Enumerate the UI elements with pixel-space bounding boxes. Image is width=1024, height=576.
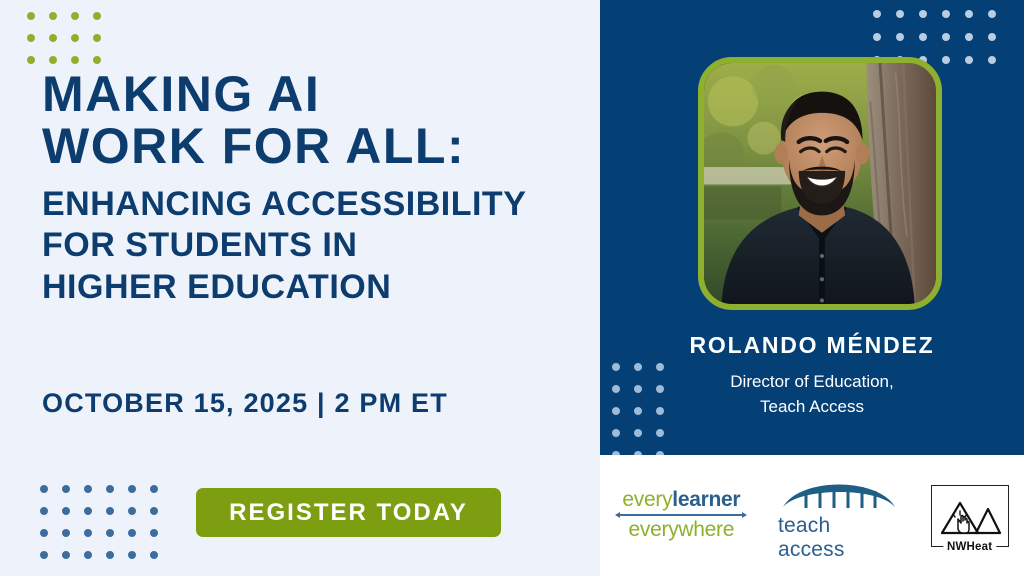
decorative-dot	[71, 56, 79, 64]
decorative-dot	[150, 485, 158, 493]
decorative-dot	[128, 485, 136, 493]
decorative-dot	[62, 507, 70, 515]
decorative-dot	[873, 10, 881, 18]
decorative-dot	[106, 551, 114, 559]
decorative-dot	[942, 33, 950, 41]
decorative-dot	[965, 56, 973, 64]
decorative-dot	[27, 12, 35, 20]
decorative-dot	[965, 33, 973, 41]
title-main-line-1: MAKING AI	[42, 68, 582, 120]
decorative-dot	[988, 10, 996, 18]
decorative-dot	[84, 551, 92, 559]
speaker-portrait-illustration	[704, 63, 936, 304]
page-title: MAKING AI WORK FOR ALL: ENHANCING ACCESS…	[42, 68, 582, 308]
decorative-dot	[919, 33, 927, 41]
decorative-dot	[919, 10, 927, 18]
decorative-dot	[27, 34, 35, 42]
decorative-dot	[71, 34, 79, 42]
speaker-photo	[704, 63, 936, 304]
teach-access-logo: teach access	[778, 469, 900, 562]
mountains-with-hand-icon	[938, 495, 1002, 537]
decorative-dot	[942, 56, 950, 64]
decorative-dot-grid-top-right	[873, 10, 996, 64]
decorative-dot	[62, 551, 70, 559]
speaker-name: ROLANDO MÉNDEZ	[600, 332, 1024, 359]
register-today-button[interactable]: REGISTER TODAY	[196, 488, 501, 537]
decorative-dot	[612, 363, 620, 371]
nwheat-logo-box: NWHeat	[931, 485, 1009, 547]
ele-everywhere-text: everywhere	[629, 519, 735, 541]
decorative-dot	[27, 56, 35, 64]
decorative-dot	[40, 551, 48, 559]
every-learner-everywhere-logo: everylearner everywhere	[615, 489, 747, 541]
decorative-dot	[896, 33, 904, 41]
bridge-arch-icon	[780, 469, 898, 511]
decorative-dot	[612, 385, 620, 393]
decorative-dot	[612, 407, 620, 415]
ele-learner-text: learner	[672, 489, 740, 510]
decorative-dot	[965, 10, 973, 18]
title-main-line-2: WORK FOR ALL:	[42, 120, 582, 172]
title-sub-line-3: HIGHER EDUCATION	[42, 267, 582, 308]
decorative-dot	[40, 485, 48, 493]
decorative-dot	[634, 407, 642, 415]
decorative-dot	[49, 56, 57, 64]
left-content-panel: MAKING AI WORK FOR ALL: ENHANCING ACCESS…	[0, 0, 600, 576]
decorative-dot	[150, 507, 158, 515]
speaker-photo-frame	[698, 57, 942, 310]
decorative-dot	[93, 12, 101, 20]
decorative-dot	[896, 10, 904, 18]
ele-arrow-rule-icon	[615, 510, 747, 519]
decorative-dot	[128, 551, 136, 559]
decorative-dot	[106, 507, 114, 515]
nwheat-wordmark: NWHeat	[943, 541, 996, 553]
decorative-dot	[634, 363, 642, 371]
decorative-dot	[40, 507, 48, 515]
title-sub-line-1: ENHANCING ACCESSIBILITY	[42, 184, 582, 225]
webinar-promo-poster: MAKING AI WORK FOR ALL: ENHANCING ACCESS…	[0, 0, 1024, 576]
ele-wordmark-top: everylearner	[622, 489, 740, 510]
decorative-dot	[656, 363, 664, 371]
decorative-dot	[93, 56, 101, 64]
decorative-dot	[656, 385, 664, 393]
decorative-dot	[942, 10, 950, 18]
decorative-dot	[656, 429, 664, 437]
event-datetime: OCTOBER 15, 2025 | 2 PM ET	[42, 388, 448, 419]
decorative-dot	[106, 485, 114, 493]
partner-logo-bar: everylearner everywhere teach access	[600, 455, 1024, 576]
decorative-dot	[49, 34, 57, 42]
decorative-dot	[656, 407, 664, 415]
decorative-dot	[150, 551, 158, 559]
decorative-dot	[40, 529, 48, 537]
decorative-dot-grid-top-left	[27, 12, 101, 64]
decorative-dot	[49, 12, 57, 20]
decorative-dot	[84, 529, 92, 537]
decorative-dot	[988, 33, 996, 41]
decorative-dot	[634, 429, 642, 437]
decorative-dot	[128, 529, 136, 537]
ele-every-text: every	[622, 489, 672, 510]
decorative-dot	[84, 507, 92, 515]
decorative-dot	[873, 33, 881, 41]
decorative-dot	[93, 34, 101, 42]
teach-access-wordmark: teach access	[778, 514, 900, 562]
decorative-dot	[84, 485, 92, 493]
decorative-dot-grid-bottom-left	[40, 485, 158, 559]
decorative-dot	[71, 12, 79, 20]
decorative-dot	[150, 529, 158, 537]
decorative-dot-grid-speaker	[612, 363, 664, 459]
decorative-dot	[634, 385, 642, 393]
decorative-dot	[128, 507, 136, 515]
nwheat-logo: NWHeat	[931, 485, 1009, 547]
decorative-dot	[62, 529, 70, 537]
decorative-dot	[612, 429, 620, 437]
decorative-dot	[62, 485, 70, 493]
decorative-dot	[106, 529, 114, 537]
decorative-dot	[988, 56, 996, 64]
title-sub-line-2: FOR STUDENTS IN	[42, 225, 582, 266]
